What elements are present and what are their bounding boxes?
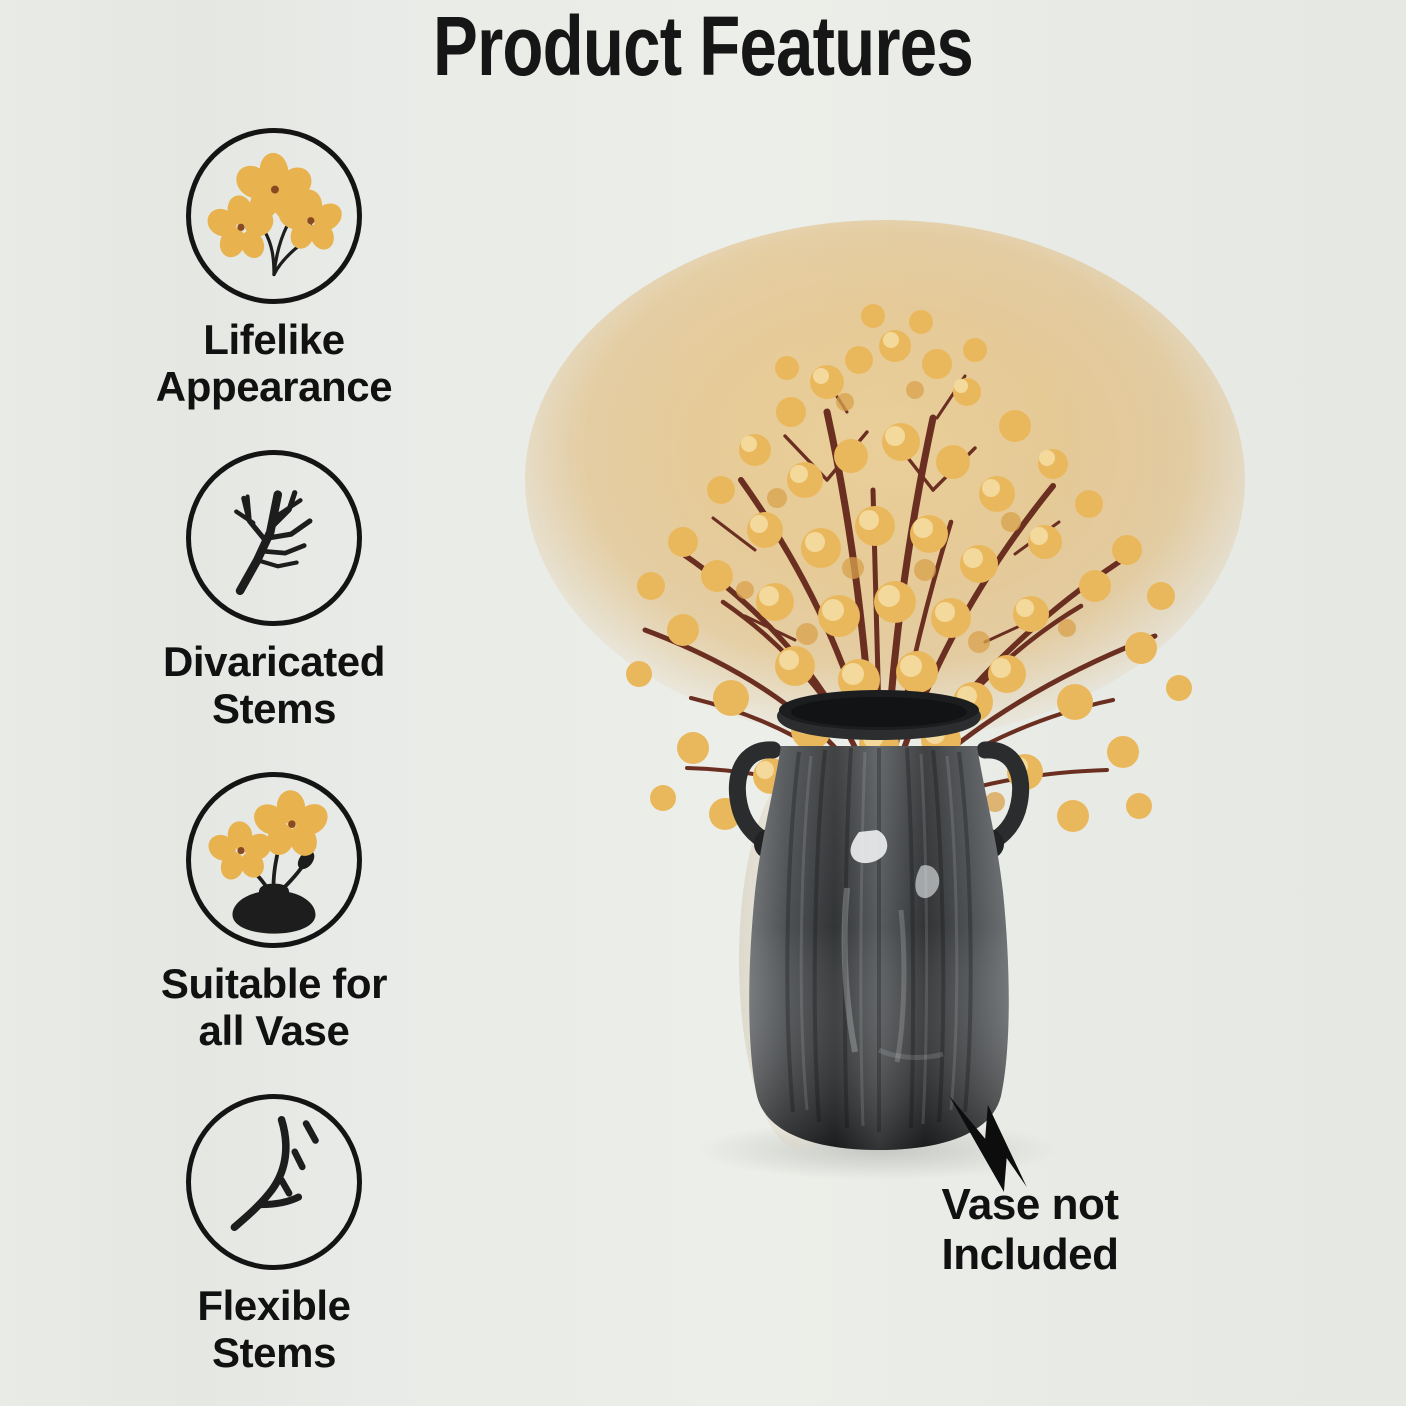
feature-label-line1: Lifelike (88, 316, 460, 363)
feature-label-line1: Divaricated (88, 638, 460, 685)
page-title: Product Features (141, 4, 1266, 90)
product-features-infographic: Product Features (0, 0, 1406, 1406)
feature-label-line2: all Vase (88, 1007, 460, 1054)
feature-label: Divaricated Stems (88, 638, 460, 732)
feature-label-line1: Flexible (88, 1282, 460, 1329)
feature-label-line2: Stems (88, 685, 460, 732)
feature-item-divaricated-stems: Divaricated Stems (88, 450, 460, 732)
feature-label: Lifelike Appearance (88, 316, 460, 410)
feature-item-flexible-stems: Flexible Stems (88, 1094, 460, 1376)
three-flowers-icon (186, 128, 362, 304)
feature-label-line2: Stems (88, 1329, 460, 1376)
bending-stem-icon (186, 1094, 362, 1270)
feature-list: Lifelike Appearance (88, 128, 460, 1376)
feature-label-line2: Appearance (88, 363, 460, 410)
feature-label-line1: Suitable for (88, 960, 460, 1007)
feature-item-lifelike-appearance: Lifelike Appearance (88, 128, 460, 410)
vase-not-included-callout: Vase not Included (865, 1180, 1195, 1280)
product-photo (455, 150, 1325, 1180)
feature-item-suitable-for-all-vase: Suitable for all Vase (88, 772, 460, 1054)
flowers-in-vase-icon (186, 772, 362, 948)
callout-line2: Included (865, 1230, 1195, 1280)
product-vase (737, 690, 1020, 1150)
branching-stem-icon (186, 450, 362, 626)
callout-line1: Vase not (865, 1180, 1195, 1230)
feature-label: Flexible Stems (88, 1282, 460, 1376)
feature-label: Suitable for all Vase (88, 960, 460, 1054)
